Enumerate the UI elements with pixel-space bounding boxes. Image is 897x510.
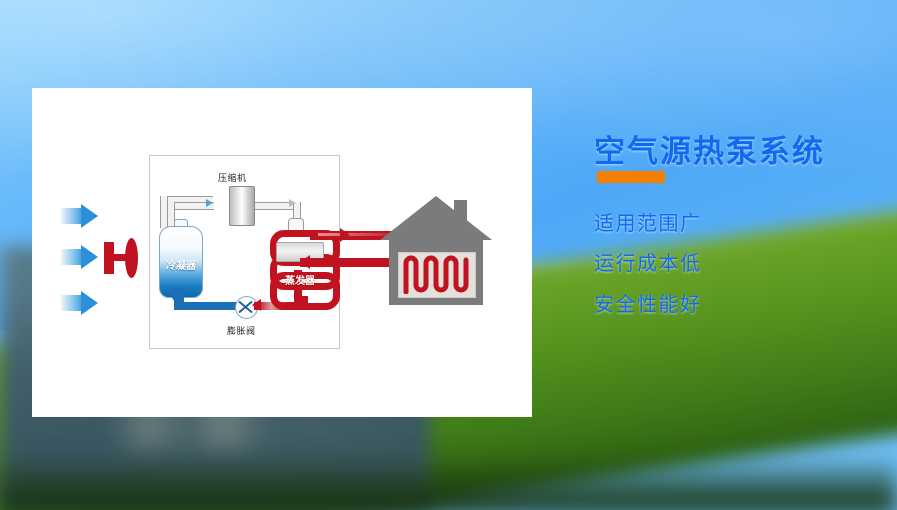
slide-canvas: 压缩机 冷凝器 膨胀阀 蒸发器: [0, 0, 897, 510]
condenser-label: 冷凝器: [160, 257, 202, 272]
liquid-pipe-elbow: [172, 290, 184, 302]
arrow-head: [81, 204, 98, 228]
arrow-tail: [61, 295, 83, 311]
arrow-head: [81, 245, 98, 269]
feature-item-2: 运行成本低: [594, 247, 702, 276]
fan-icon: [104, 238, 140, 278]
house-supply-arrow-icon: [340, 228, 350, 242]
title-underline: [597, 171, 665, 183]
arrow-tail: [61, 208, 83, 224]
background-bottom-shade: [0, 455, 897, 510]
arrow-tail: [61, 249, 83, 265]
air-arrow-top-icon: [61, 204, 97, 228]
house-icon: [380, 196, 492, 308]
feature-item-1: 适用范围广: [594, 207, 702, 236]
floor-heating-coil-icon: [402, 254, 472, 294]
page-title: 空气源热泵系统: [594, 126, 825, 171]
hot-flow-arrow-icon: [252, 299, 261, 311]
roof-shape: [380, 196, 492, 240]
air-arrow-middle-icon: [61, 245, 97, 269]
compressor-unit: [229, 186, 255, 226]
air-arrow-bottom-icon: [61, 291, 97, 315]
fan-blade: [125, 238, 138, 278]
evaporator-label: 蒸发器: [268, 272, 332, 287]
expansion-valve-label: 膨胀阀: [227, 324, 256, 337]
gas-flow-arrow-out-icon: [289, 199, 296, 207]
gas-flow-arrow-in-icon: [206, 199, 213, 207]
arrow-head: [81, 291, 98, 315]
house-return-arrow-icon: [300, 255, 310, 269]
compressor-label: 压缩机: [218, 171, 247, 184]
feature-item-3: 安全性能好: [594, 288, 702, 317]
